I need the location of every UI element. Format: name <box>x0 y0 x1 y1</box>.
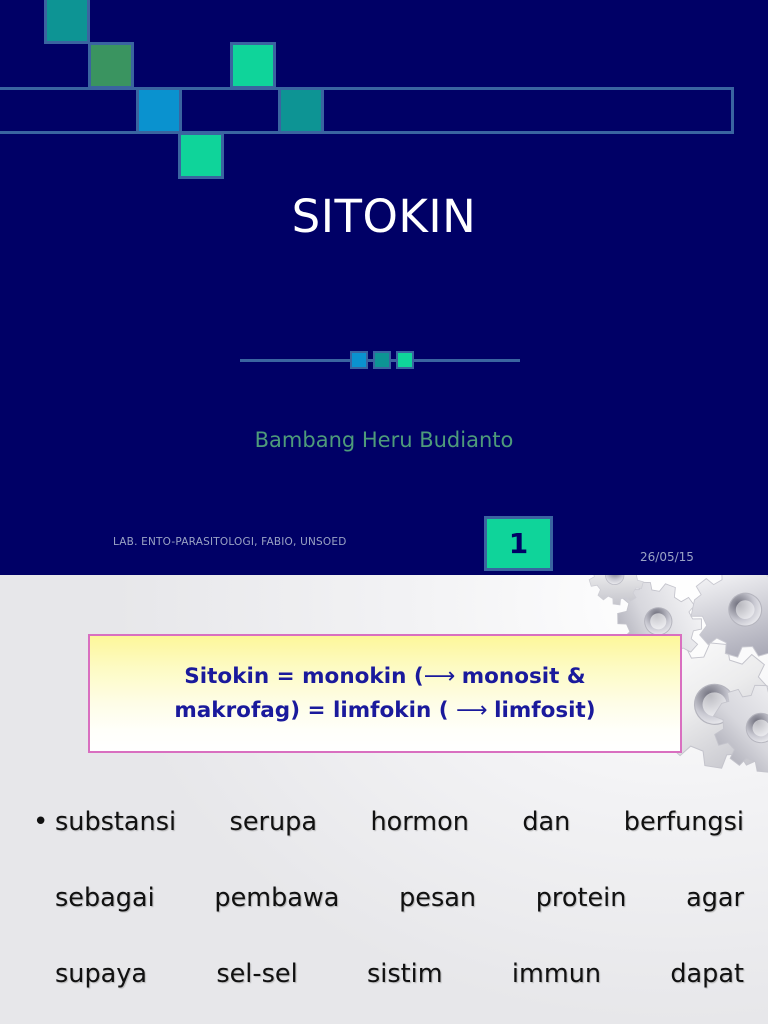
footer-date: 26/05/15 <box>640 550 694 564</box>
presentation-page: SITOKIN Bambang Heru Budianto LAB. ENTO-… <box>0 0 768 1024</box>
bullet-line: supaya sel-sel sistim immun dapat <box>55 955 744 1024</box>
bullet-text: substansi serupa hormon dan berfungsiseb… <box>55 803 744 1024</box>
footer-organization: LAB. ENTO-PARASITOLOGI, FABIO, UNSOED <box>113 536 363 549</box>
deco-header-bar <box>0 87 734 134</box>
callout-line1-pre: Sitokin = monokin ( <box>184 664 423 689</box>
divider-square-blue <box>350 351 368 369</box>
title-slide: SITOKIN Bambang Heru Budianto LAB. ENTO-… <box>0 0 768 575</box>
deco-square-blue-1 <box>136 87 182 134</box>
definition-callout-text: Sitokin = monokin (⟶ monosit & makrofag)… <box>164 660 605 727</box>
bullet-list: •substansi serupa hormon dan berfungsise… <box>28 803 744 1024</box>
bullet-line: substansi serupa hormon dan berfungsi <box>55 803 744 879</box>
slide-number-badge: 1 <box>484 516 553 571</box>
deco-square-teal-1 <box>44 0 90 44</box>
deco-square-teal-2 <box>278 87 324 134</box>
author-name: Bambang Heru Budianto <box>0 428 768 452</box>
bullet-line: sebagai pembawa pesan protein agar <box>55 879 744 955</box>
arrow-right-icon-1: ⟶ <box>424 664 455 689</box>
bullet-item: •substansi serupa hormon dan berfungsise… <box>28 803 744 1024</box>
callout-line2-post: limfosit) <box>487 698 596 723</box>
deco-square-green-1 <box>88 42 134 89</box>
deco-square-mint-2 <box>178 132 224 179</box>
definition-callout-box: Sitokin = monokin (⟶ monosit & makrofag)… <box>88 634 682 753</box>
callout-line2-pre: makrofag) = limfokin ( <box>174 698 456 723</box>
divider-square-mint <box>396 351 414 369</box>
deco-square-mint-1 <box>230 42 276 89</box>
bullet-marker-icon: • <box>28 803 55 841</box>
divider-square-teal <box>373 351 391 369</box>
divider <box>240 351 520 371</box>
arrow-right-icon-2: ⟶ <box>456 698 487 723</box>
page-title: SITOKIN <box>0 193 768 240</box>
callout-line1-post: monosit & <box>454 664 585 689</box>
content-slide: Sitokin = monokin (⟶ monosit & makrofag)… <box>0 575 768 1024</box>
